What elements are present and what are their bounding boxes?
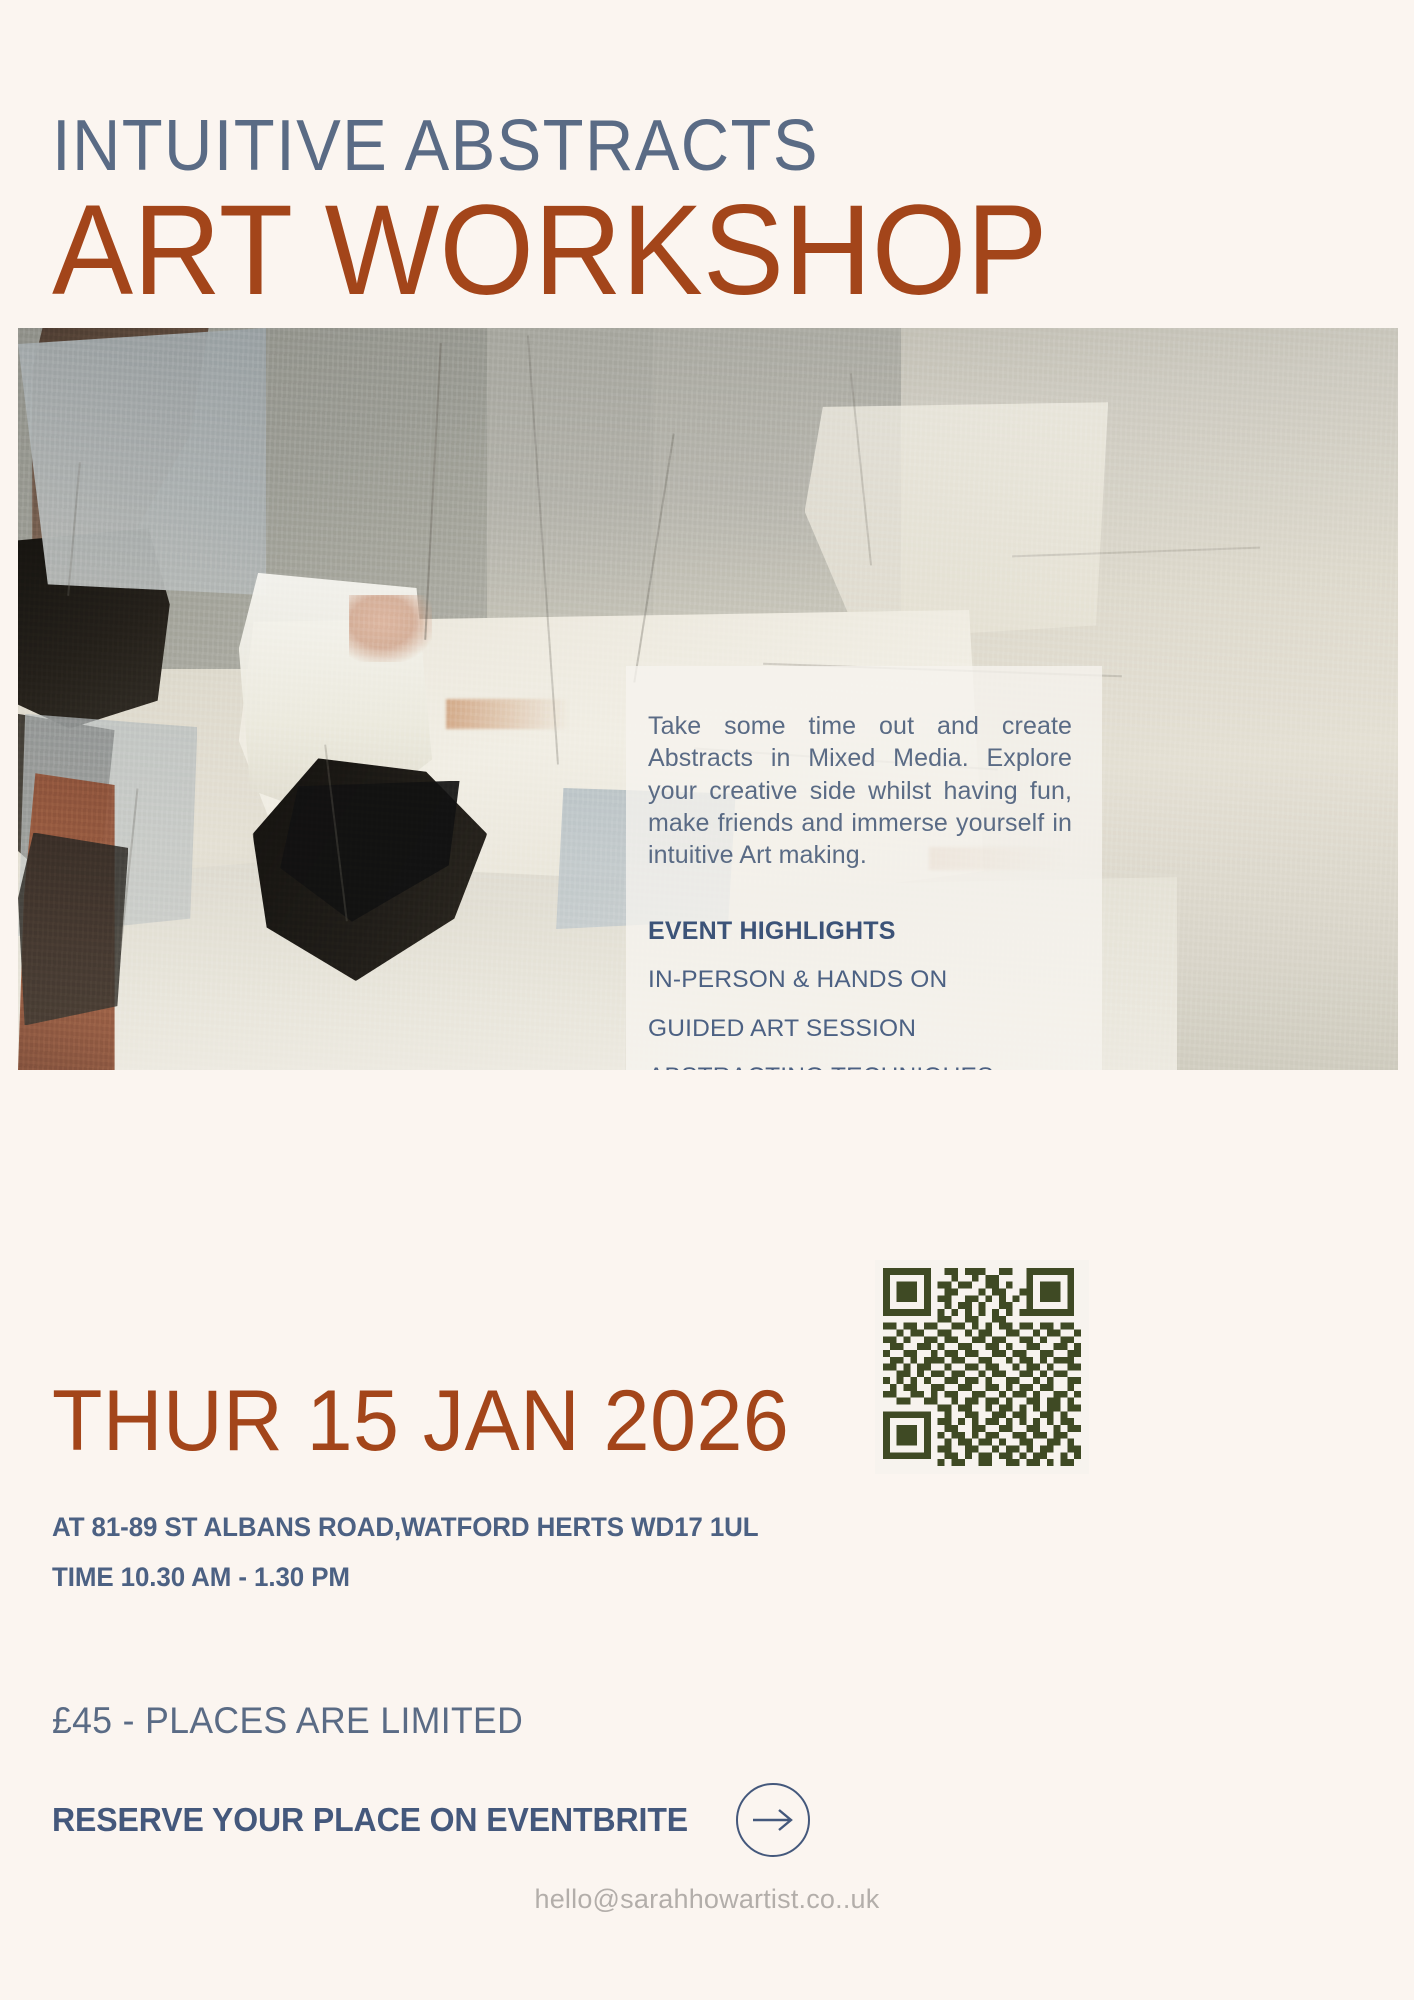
list-item: IN-PERSON & HANDS ON xyxy=(648,968,1072,993)
reserve-cta-row[interactable]: RESERVE YOUR PLACE ON EVENTBRITE xyxy=(52,1783,810,1857)
page-title: ART WORKSHOP xyxy=(52,186,1306,317)
list-item: GUIDED ART SESSION xyxy=(648,1017,1072,1042)
event-highlights-title: EVENT HIGHLIGHTS xyxy=(648,917,1072,946)
artwork-image: Take some time out and create Abstracts … xyxy=(18,328,1398,1070)
list-item: ABSTRACTING TECHNIQUES xyxy=(648,1065,1072,1070)
event-description: Take some time out and create Abstracts … xyxy=(648,710,1072,871)
event-info-panel: Take some time out and create Abstracts … xyxy=(626,666,1102,1070)
poster-header: INTUITIVE ABSTRACTS ART WORKSHOP xyxy=(52,110,1372,317)
reserve-label: RESERVE YOUR PLACE ON EVENTBRITE xyxy=(52,1801,688,1839)
event-price: £45 - PLACES ARE LIMITED xyxy=(52,1700,523,1742)
event-time: TIME 10.30 AM - 1.30 PM xyxy=(52,1562,350,1593)
qr-code-image xyxy=(883,1268,1081,1466)
arrow-right-icon[interactable] xyxy=(736,1783,810,1857)
poster-root: INTUITIVE ABSTRACTS ART WORKSHOP xyxy=(0,0,1414,2000)
qr-code[interactable] xyxy=(875,1260,1089,1474)
event-address: AT 81-89 ST ALBANS ROAD,WATFORD HERTS WD… xyxy=(52,1512,759,1543)
event-date: THUR 15 JAN 2026 xyxy=(52,1378,789,1464)
contact-email[interactable]: hello@sarahhowartist.co..uk xyxy=(0,1884,1414,1915)
event-highlights-list: IN-PERSON & HANDS ON GUIDED ART SESSION … xyxy=(648,968,1072,1070)
eyebrow-title: INTUITIVE ABSTRACTS xyxy=(52,110,1280,182)
